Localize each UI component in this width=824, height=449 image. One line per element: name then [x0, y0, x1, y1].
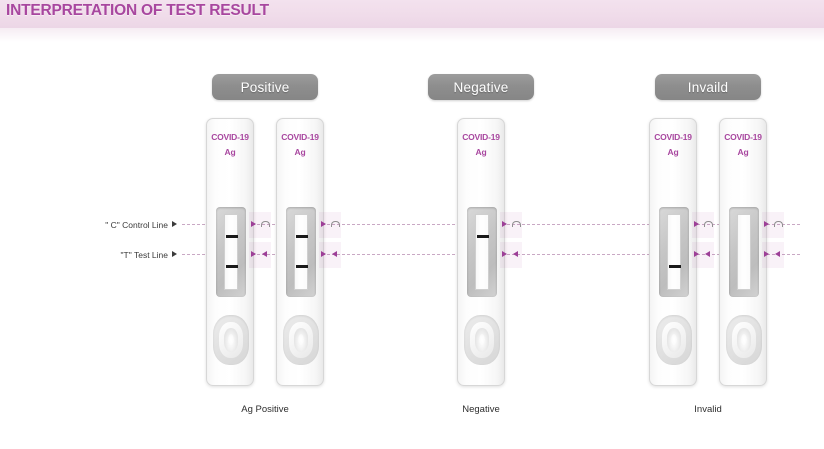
control-marker-hood [261, 221, 270, 227]
strip-label: COVID-19 Ag [650, 131, 696, 159]
test-marker-left [705, 251, 710, 257]
strip-label-line1: COVID-19 [211, 132, 249, 142]
test-strip-negative-1: COVID-19 Ag [457, 118, 505, 386]
control-band [477, 235, 489, 238]
result-window [467, 207, 497, 297]
sample-well-inner [294, 328, 308, 352]
group-caption-invalid: Invalid [649, 404, 767, 415]
sample-well-highlight [298, 334, 304, 346]
strip-label-line2: Ag [650, 146, 696, 159]
test-strip-invalid-2: COVID-19 Ag [719, 118, 767, 386]
control-marker-hood [774, 221, 783, 227]
header-band: INTERPRETATION OF TEST RESULT [0, 0, 824, 28]
control-line-arrow [172, 221, 177, 227]
test-marker-right [502, 251, 507, 257]
control-marker-right [251, 221, 256, 227]
test-marker-left [332, 251, 337, 257]
strip-label-line2: Ag [458, 146, 504, 159]
header-fade [0, 28, 824, 42]
control-marker-hood [512, 221, 521, 227]
strip-label-line2: Ag [720, 146, 766, 159]
sample-well-highlight [479, 334, 485, 346]
sample-well [656, 315, 692, 365]
result-window-inner [737, 214, 751, 290]
sample-well-mid [662, 322, 686, 358]
test-band [296, 265, 308, 268]
control-marker-right [764, 221, 769, 227]
control-marker-hood [331, 221, 340, 227]
test-strip-invalid-1: COVID-19 Ag [649, 118, 697, 386]
sample-well-inner [224, 328, 238, 352]
strip-label-line1: COVID-19 [724, 132, 762, 142]
sample-well-inner [475, 328, 489, 352]
group-badge-positive: Positive [212, 74, 318, 100]
control-line-label: " C" Control Line [18, 220, 168, 230]
figure-canvas: " C" Control Line "T" Test Line Positive… [0, 42, 824, 449]
sample-well-highlight [741, 334, 747, 346]
result-window-inner [224, 214, 238, 290]
sample-well-inner [737, 328, 751, 352]
test-strip-positive-2: COVID-19 Ag [276, 118, 324, 386]
strip-label: COVID-19 Ag [207, 131, 253, 159]
sample-well-mid [289, 322, 313, 358]
strip-label-line1: COVID-19 [281, 132, 319, 142]
result-window-inner [294, 214, 308, 290]
control-marker-hood [704, 221, 713, 227]
group-badge-negative: Negative [428, 74, 534, 100]
sample-well [283, 315, 319, 365]
result-window-inner [475, 214, 489, 290]
sample-well-inner [667, 328, 681, 352]
strip-label-line2: Ag [277, 146, 323, 159]
test-marker-right [764, 251, 769, 257]
sample-well-mid [219, 322, 243, 358]
test-marker-left [262, 251, 267, 257]
strip-label-line1: COVID-19 [462, 132, 500, 142]
test-band [226, 265, 238, 268]
result-window [286, 207, 316, 297]
group-caption-positive: Ag Positive [206, 404, 324, 415]
group-badge-invalid: Invaild [655, 74, 761, 100]
test-strip-positive-1: COVID-19 Ag [206, 118, 254, 386]
result-window-inner [667, 214, 681, 290]
control-band [226, 235, 238, 238]
strip-label: COVID-19 Ag [720, 131, 766, 159]
control-marker-right [321, 221, 326, 227]
sample-well [213, 315, 249, 365]
sample-well-mid [470, 322, 494, 358]
page-title: INTERPRETATION OF TEST RESULT [6, 2, 269, 20]
control-band [296, 235, 308, 238]
strip-label: COVID-19 Ag [458, 131, 504, 159]
sample-well [726, 315, 762, 365]
strip-label: COVID-19 Ag [277, 131, 323, 159]
strip-label-line2: Ag [207, 146, 253, 159]
test-line-arrow [172, 251, 177, 257]
result-window [659, 207, 689, 297]
test-marker-right [251, 251, 256, 257]
test-marker-left [513, 251, 518, 257]
sample-well-highlight [228, 334, 234, 346]
sample-well-mid [732, 322, 756, 358]
sample-well [464, 315, 500, 365]
strip-label-line1: COVID-19 [654, 132, 692, 142]
group-caption-negative: Negative [422, 404, 540, 415]
test-band [669, 265, 681, 268]
control-marker-right [502, 221, 507, 227]
test-line-label: "T" Test Line [18, 250, 168, 260]
test-marker-right [321, 251, 326, 257]
interpretation-of-test-result-figure: INTERPRETATION OF TEST RESULT " C" Contr… [0, 0, 824, 449]
test-marker-right [694, 251, 699, 257]
control-marker-right [694, 221, 699, 227]
test-marker-left [775, 251, 780, 257]
result-window [216, 207, 246, 297]
sample-well-highlight [671, 334, 677, 346]
result-window [729, 207, 759, 297]
